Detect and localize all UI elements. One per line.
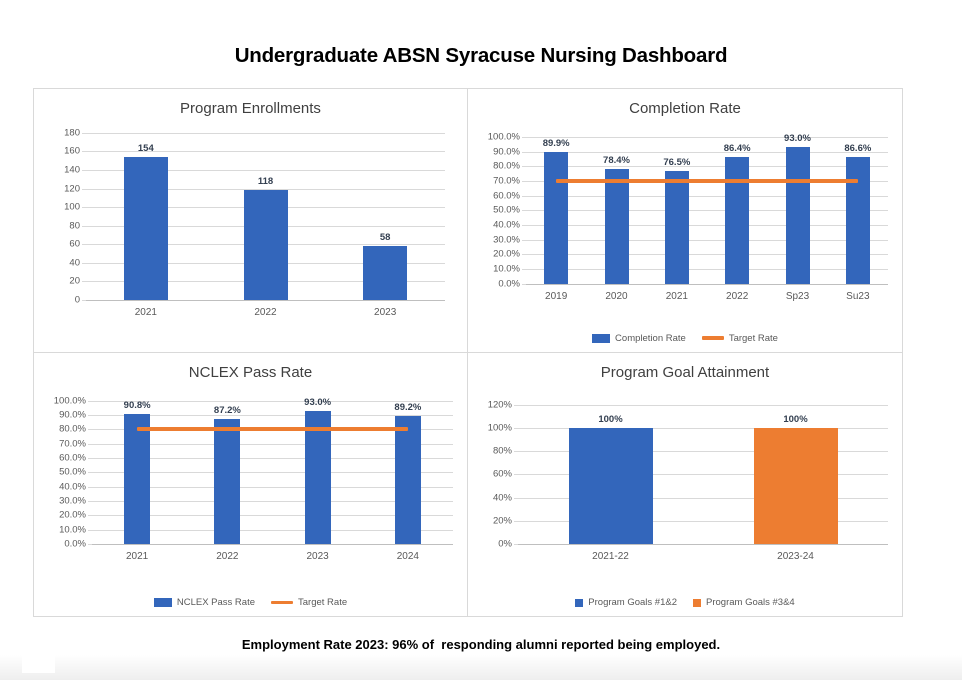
y-axis-tick-label: 40.0% <box>493 219 520 230</box>
bar[interactable] <box>124 414 150 544</box>
y-tick-mark <box>82 263 86 264</box>
y-axis-tick-label: 180 <box>64 128 80 139</box>
x-axis-tick-label: 2021 <box>135 307 157 318</box>
y-tick-mark <box>82 281 86 282</box>
bar[interactable] <box>124 157 168 299</box>
bottom-white-tab <box>22 655 55 673</box>
y-tick-mark <box>522 240 526 241</box>
x-axis-tick-label: Su23 <box>846 291 869 302</box>
bar-value-label: 58 <box>380 232 391 243</box>
y-tick-mark <box>514 428 518 429</box>
y-axis-tick-label: 20% <box>493 515 512 526</box>
chart-title: Completion Rate <box>468 100 902 117</box>
gridline <box>518 405 888 406</box>
y-tick-mark <box>522 166 526 167</box>
chart-legend-nclex-pass-rate: NCLEX Pass RateTarget Rate <box>34 597 467 608</box>
legend-item[interactable]: Program Goals #3&4 <box>693 597 795 608</box>
bar-value-label: 118 <box>258 176 273 187</box>
page-title: Undergraduate ABSN Syracuse Nursing Dash… <box>0 44 962 68</box>
y-tick-mark <box>82 244 86 245</box>
y-tick-mark <box>514 521 518 522</box>
gridline <box>518 544 888 545</box>
bar-value-label: 100% <box>783 414 807 425</box>
chart-legend-completion-rate: Completion RateTarget Rate <box>468 333 902 344</box>
y-tick-mark <box>88 515 92 516</box>
bar[interactable] <box>569 428 653 544</box>
x-axis-tick-label: 2024 <box>397 551 419 562</box>
legend-item[interactable]: NCLEX Pass Rate <box>154 597 255 608</box>
gridline <box>526 196 888 197</box>
y-tick-mark <box>82 151 86 152</box>
y-tick-mark <box>514 405 518 406</box>
y-axis-tick-label: 20.0% <box>59 510 86 521</box>
x-axis-tick-label: 2022 <box>216 551 238 562</box>
bar[interactable] <box>605 169 629 284</box>
plot-area-completion-rate: 100.0%90.0%80.0%70.0%60.0%50.0%40.0%30.0… <box>526 137 888 284</box>
y-axis-tick-label: 0.0% <box>64 539 86 550</box>
x-axis-tick-label: 2023 <box>307 551 329 562</box>
plot-area-program-enrollments: 1801601401201008060402001542021118202258… <box>86 133 445 300</box>
gridline <box>86 133 445 134</box>
y-tick-mark <box>514 474 518 475</box>
y-tick-mark <box>88 429 92 430</box>
x-axis-tick-label: Sp23 <box>786 291 809 302</box>
bar-value-label: 93.0% <box>784 133 811 144</box>
bar[interactable] <box>665 171 689 283</box>
x-axis-tick-label: 2023-24 <box>777 551 814 562</box>
y-tick-mark <box>88 444 92 445</box>
y-axis-tick-label: 100 <box>64 201 80 212</box>
y-tick-mark <box>82 189 86 190</box>
y-tick-mark <box>88 501 92 502</box>
bar-value-label: 93.0% <box>304 397 331 408</box>
gridline <box>526 240 888 241</box>
y-axis-tick-label: 120% <box>488 399 512 410</box>
y-tick-mark <box>88 401 92 402</box>
y-tick-mark <box>88 530 92 531</box>
y-axis-tick-label: 60.0% <box>59 452 86 463</box>
y-axis-tick-label: 90.0% <box>59 409 86 420</box>
chart-title: NCLEX Pass Rate <box>34 364 467 381</box>
y-tick-mark <box>522 254 526 255</box>
y-axis-tick-label: 60 <box>69 239 80 250</box>
y-axis-tick-label: 100.0% <box>54 395 86 406</box>
y-axis-tick-label: 30.0% <box>59 495 86 506</box>
gridline <box>526 254 888 255</box>
legend-line-icon <box>271 601 293 605</box>
x-axis-tick-label: 2021-22 <box>592 551 629 562</box>
y-axis-tick-label: 40% <box>493 492 512 503</box>
y-axis-tick-label: 0 <box>75 294 80 305</box>
employment-rate-note: Employment Rate 2023: 96% of responding … <box>0 637 962 652</box>
y-axis-tick-label: 90.0% <box>493 146 520 157</box>
y-tick-mark <box>522 225 526 226</box>
x-axis-tick-label: 2021 <box>666 291 688 302</box>
y-axis-tick-label: 40 <box>69 257 80 268</box>
y-tick-mark <box>88 415 92 416</box>
bar[interactable] <box>725 157 749 284</box>
bar[interactable] <box>786 147 810 283</box>
y-axis-tick-label: 20 <box>69 275 80 286</box>
y-tick-mark <box>522 137 526 138</box>
gridline <box>86 300 445 301</box>
x-axis-tick-label: 2021 <box>126 551 148 562</box>
y-axis-tick-label: 60% <box>493 469 512 480</box>
gridline <box>526 210 888 211</box>
y-tick-mark <box>88 472 92 473</box>
y-axis-tick-label: 100% <box>488 422 512 433</box>
y-tick-mark <box>522 152 526 153</box>
legend-square-icon <box>592 334 610 343</box>
chart-title: Program Enrollments <box>34 100 467 117</box>
dashboard-chart-grid: Program Enrollments 18016014012010080604… <box>33 88 903 617</box>
legend-label: Target Rate <box>298 597 347 608</box>
chart-panel-completion-rate[interactable]: Completion Rate 100.0%90.0%80.0%70.0%60.… <box>468 89 902 353</box>
y-axis-tick-label: 100.0% <box>488 132 520 143</box>
y-axis-tick-label: 80.0% <box>59 424 86 435</box>
y-axis-tick-label: 120 <box>64 183 80 194</box>
bar-value-label: 86.6% <box>844 143 871 154</box>
gridline <box>526 225 888 226</box>
bar-value-label: 154 <box>138 143 154 154</box>
chart-legend-program-goal-attainment: Program Goals #1&2Program Goals #3&4 <box>468 597 902 608</box>
legend-line-icon <box>702 336 724 340</box>
bar-value-label: 100% <box>598 414 622 425</box>
legend-square-icon <box>693 599 701 607</box>
gridline <box>526 137 888 138</box>
chart-panel-nclex-pass-rate[interactable]: NCLEX Pass Rate 100.0%90.0%80.0%70.0%60.… <box>34 353 468 617</box>
plot-area-program-goal-attainment: 120%100%80%60%40%20%0%100%2021-22100%202… <box>518 405 888 545</box>
bar[interactable] <box>244 190 288 299</box>
chart-panel-program-goal-attainment[interactable]: Program Goal Attainment 120%100%80%60%40… <box>468 353 902 617</box>
y-tick-mark <box>88 544 92 545</box>
chart-title: Program Goal Attainment <box>468 364 902 381</box>
y-axis-tick-label: 10.0% <box>493 263 520 274</box>
y-tick-mark <box>522 284 526 285</box>
bar[interactable] <box>754 428 838 544</box>
y-axis-tick-label: 160 <box>64 146 80 157</box>
legend-label: Program Goals #1&2 <box>588 597 677 608</box>
y-tick-mark <box>514 498 518 499</box>
gridline <box>526 269 888 270</box>
y-axis-tick-label: 10.0% <box>59 524 86 535</box>
chart-panel-program-enrollments[interactable]: Program Enrollments 18016014012010080604… <box>34 89 468 353</box>
y-tick-mark <box>82 207 86 208</box>
target-rate-line[interactable] <box>137 427 408 431</box>
bar[interactable] <box>363 246 407 300</box>
gridline <box>526 166 888 167</box>
y-axis-tick-label: 50.0% <box>493 205 520 216</box>
y-tick-mark <box>82 170 86 171</box>
y-tick-mark <box>522 210 526 211</box>
y-axis-tick-label: 40.0% <box>59 481 86 492</box>
bottom-gradient-band <box>0 655 962 680</box>
y-axis-tick-label: 50.0% <box>59 467 86 478</box>
gridline <box>526 284 888 285</box>
x-axis-tick-label: 2022 <box>254 307 276 318</box>
legend-item[interactable]: Target Rate <box>702 333 778 344</box>
y-tick-mark <box>514 544 518 545</box>
y-axis-tick-label: 20.0% <box>493 249 520 260</box>
legend-label: Completion Rate <box>615 333 686 344</box>
bar[interactable] <box>214 419 240 544</box>
x-axis-tick-label: 2019 <box>545 291 567 302</box>
bar-value-label: 86.4% <box>724 143 751 154</box>
y-axis-tick-label: 80.0% <box>493 161 520 172</box>
bar[interactable] <box>544 152 568 284</box>
legend-label: Program Goals #3&4 <box>706 597 795 608</box>
x-axis-tick-label: 2020 <box>605 291 627 302</box>
y-axis-tick-label: 30.0% <box>493 234 520 245</box>
y-axis-tick-label: 140 <box>64 164 80 175</box>
y-axis-tick-label: 70.0% <box>59 438 86 449</box>
gridline <box>526 152 888 153</box>
y-tick-mark <box>82 300 86 301</box>
y-axis-tick-label: 80 <box>69 220 80 231</box>
bar-value-label: 90.8% <box>124 400 151 411</box>
bar-value-label: 89.9% <box>543 138 570 149</box>
y-tick-mark <box>82 133 86 134</box>
y-tick-mark <box>522 181 526 182</box>
target-rate-line[interactable] <box>556 179 858 183</box>
legend-square-icon <box>154 598 172 607</box>
legend-item[interactable]: Target Rate <box>271 597 347 608</box>
legend-square-icon <box>575 599 583 607</box>
bar[interactable] <box>395 416 421 544</box>
y-tick-mark <box>522 196 526 197</box>
legend-item[interactable]: Program Goals #1&2 <box>575 597 677 608</box>
plot-area-nclex-pass-rate: 100.0%90.0%80.0%70.0%60.0%50.0%40.0%30.0… <box>92 401 453 545</box>
legend-item[interactable]: Completion Rate <box>592 333 686 344</box>
gridline <box>92 544 453 545</box>
y-tick-mark <box>514 451 518 452</box>
bar-value-label: 76.5% <box>663 157 690 168</box>
y-axis-tick-label: 70.0% <box>493 175 520 186</box>
y-axis-tick-label: 0.0% <box>498 278 520 289</box>
bar-value-label: 89.2% <box>394 402 421 413</box>
y-tick-mark <box>522 269 526 270</box>
bar[interactable] <box>846 157 870 284</box>
legend-label: Target Rate <box>729 333 778 344</box>
bar-value-label: 87.2% <box>214 405 241 416</box>
x-axis-tick-label: 2022 <box>726 291 748 302</box>
y-axis-tick-label: 0% <box>498 539 512 550</box>
bar-value-label: 78.4% <box>603 155 630 166</box>
y-axis-tick-label: 60.0% <box>493 190 520 201</box>
legend-label: NCLEX Pass Rate <box>177 597 255 608</box>
y-tick-mark <box>88 487 92 488</box>
y-tick-mark <box>82 226 86 227</box>
y-tick-mark <box>88 458 92 459</box>
y-axis-tick-label: 80% <box>493 446 512 457</box>
x-axis-tick-label: 2023 <box>374 307 396 318</box>
